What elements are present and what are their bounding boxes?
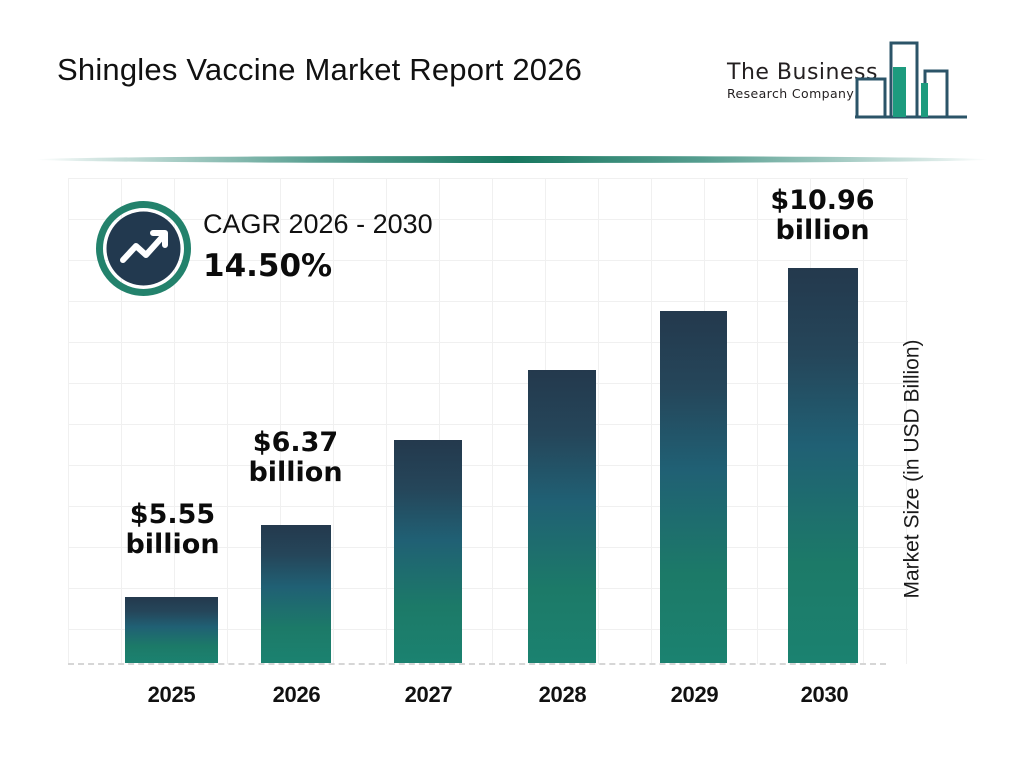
gridline-h: [68, 465, 908, 466]
cagr-value: 14.50%: [203, 248, 433, 284]
bar-2030[interactable]: [788, 268, 858, 663]
gridline-h: [68, 383, 908, 384]
gridline-h: [68, 342, 908, 343]
axis-baseline: [68, 663, 886, 665]
gridline-h: [68, 178, 908, 179]
x-axis-label-2028: 2028: [495, 682, 630, 708]
bar-value-amount-2025: $5.55: [90, 500, 255, 530]
bar-2029[interactable]: [660, 311, 727, 663]
bar-chart: $5.55 billion $6.37 billion $10.96 billi…: [0, 0, 1024, 768]
bar-value-unit-2026: billion: [213, 458, 378, 488]
gridline-v: [598, 178, 599, 664]
gridline-v: [757, 178, 758, 664]
gridline-h: [68, 424, 908, 425]
gridline-v: [863, 178, 864, 664]
cagr-period-label: CAGR 2026 - 2030: [203, 209, 433, 240]
gridline-h: [68, 588, 908, 589]
cagr-text-block: CAGR 2026 - 2030 14.50%: [203, 209, 433, 284]
x-axis-label-2026: 2026: [229, 682, 364, 708]
x-axis-label-2027: 2027: [361, 682, 496, 708]
bar-value-unit-2025: billion: [90, 530, 255, 560]
bar-2025[interactable]: [125, 597, 218, 663]
y-axis-title: Market Size (in USD Billion): [899, 276, 927, 662]
bar-2028[interactable]: [528, 370, 596, 663]
bar-2027[interactable]: [394, 440, 462, 663]
bar-value-label-2025: $5.55 billion: [90, 500, 255, 560]
gridline-v: [651, 178, 652, 664]
bar-value-amount-2026: $6.37: [213, 428, 378, 458]
cagr-callout: CAGR 2026 - 2030 14.50%: [96, 201, 516, 311]
x-axis-label-2025: 2025: [104, 682, 239, 708]
y-axis-title-text: Market Size (in USD Billion): [901, 339, 925, 598]
bar-value-unit-2030: billion: [740, 216, 905, 246]
bar-value-label-2030: $10.96 billion: [740, 186, 905, 246]
x-axis-label-2030: 2030: [757, 682, 892, 708]
bar-value-label-2026: $6.37 billion: [213, 428, 378, 488]
bar-value-amount-2030: $10.96: [740, 186, 905, 216]
gridline-v: [68, 178, 69, 664]
cagr-badge-icon: [96, 201, 191, 296]
x-axis-label-2029: 2029: [627, 682, 762, 708]
bar-2026[interactable]: [261, 525, 331, 663]
